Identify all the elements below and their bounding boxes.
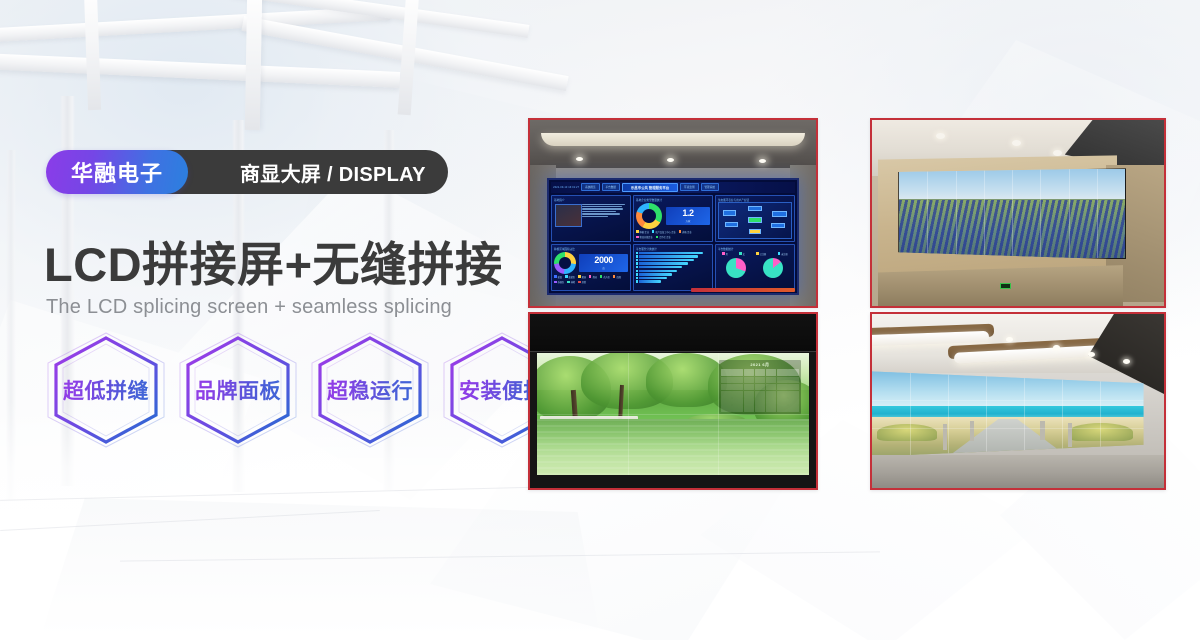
dashboard-panel-intro: 基地简介 (551, 195, 631, 242)
dashboard-panel-area-title: 种植区域面积占比 (554, 247, 628, 251)
dashboard-panel-enterprise-title: 基地企业类型数量统计 (636, 198, 710, 202)
dashboard-tab-2: 环境监测 (680, 183, 698, 191)
feature-badge-2-label: 品牌面板 (176, 332, 300, 448)
brand-pill-label: 华融电子 (71, 156, 163, 188)
photo-lakeside-videowall[interactable]: 2021 6月 (528, 312, 818, 490)
dashboard-tab-1: 平台数据 (602, 183, 620, 191)
dashboard-header-title: 乐昌市公共 管理服务平台 (622, 183, 678, 192)
dashboard-panel-service: 平台服务分类统计 (633, 244, 713, 291)
photo-lakeside-videowall-image: 2021 6月 (530, 314, 816, 488)
dashboard-enterprise-unit: 万家 (670, 219, 706, 223)
banner-stage: 商显大屏 / DISPLAY 华融电子 LCD拼接屏+无缝拼接 The LCD … (0, 0, 1200, 640)
dashboard-panel-enterprise: 基地企业类型数量统计 1.2 万家 种植 企业农产品加工中心 企业 (633, 195, 713, 242)
dashboard-panel-stats-title: 平台数据统计 (718, 247, 792, 251)
dashboard-panel-chain: 生态循环农业与用户产业链 (715, 195, 795, 242)
videowall-screen-solar (898, 168, 1126, 259)
feature-badge-3-label: 超稳运行 (308, 332, 432, 448)
feature-badge-row: 超低拼缝 品牌面板 超稳运行 (44, 332, 564, 448)
photo-solar-farm-videowall[interactable] (870, 118, 1166, 308)
dashboard-panel-area: 种植区域面积占比 2000 亩 稻田蔬菜区果园 (551, 244, 631, 291)
feature-badge-3: 超稳运行 (308, 332, 432, 448)
dashboard-timestamp: 2021-09-13 16:01:27 (553, 186, 579, 189)
dashboard-panel-service-title: 平台服务分类统计 (636, 247, 710, 251)
dashboard-area-value: 2000 (583, 256, 624, 265)
dashboard-tab-0: 系统概览 (581, 183, 599, 191)
dashboard-panel-intro-title: 基地简介 (554, 198, 628, 202)
feature-badge-2: 品牌面板 (176, 332, 300, 448)
screen-calendar-overlay: 2021 6月 (719, 360, 801, 414)
videowall-screen-dashboard: 2021-09-13 16:01:27 系统概览 平台数据 乐昌市公共 管理服务… (547, 178, 799, 295)
videowall-screen-beach (872, 371, 1144, 456)
screen-calendar-title: 2021 6月 (721, 362, 799, 368)
photo-beach-boardwalk-videowall-image (872, 314, 1164, 488)
product-photo-grid: 2021-09-13 16:01:27 系统概览 平台数据 乐昌市公共 管理服务… (528, 118, 1166, 490)
brand-pill: 华融电子 (46, 150, 188, 194)
dashboard-area-unit: 亩 (583, 266, 624, 270)
dashboard-panel-stats: 平台数据统计 男女 已注册未注册 (715, 244, 795, 291)
photo-solar-farm-videowall-image (872, 120, 1164, 306)
feature-badge-1: 超低拼缝 (44, 332, 168, 448)
videowall-screen-lakeside: 2021 6月 (537, 353, 809, 475)
photo-control-room-dashboard-image: 2021-09-13 16:01:27 系统概览 平台数据 乐昌市公共 管理服务… (530, 120, 816, 306)
category-pill-label: 商显大屏 / DISPLAY (240, 158, 426, 187)
feature-badge-1-label: 超低拼缝 (44, 332, 168, 448)
dashboard-enterprise-value: 1.2 (670, 209, 706, 218)
page-title: LCD拼接屏+无缝拼接 (44, 226, 503, 295)
photo-beach-boardwalk-videowall[interactable] (870, 312, 1166, 490)
banner-text-column: 商显大屏 / DISPLAY 华融电子 LCD拼接屏+无缝拼接 The LCD … (0, 0, 520, 640)
photo-control-room-dashboard[interactable]: 2021-09-13 16:01:27 系统概览 平台数据 乐昌市公共 管理服务… (528, 118, 818, 308)
dashboard-tab-3: 管理系统 (701, 183, 719, 191)
page-subtitle: The LCD splicing screen + seamless splic… (46, 296, 452, 319)
brand-pill-group: 商显大屏 / DISPLAY 华融电子 (46, 150, 188, 194)
